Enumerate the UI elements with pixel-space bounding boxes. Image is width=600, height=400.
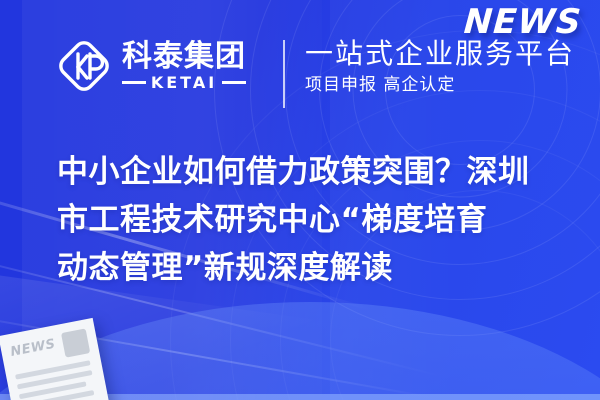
brand-logo[interactable]: 科泰集团 KETAI [56,38,246,94]
tagline-sub: 项目申报 高企认定 [305,74,575,96]
tagline-main: 一站式企业服务平台 [305,36,575,71]
banner-header: 科泰集团 KETAI 一站式企业服务平台 项目申报 高企认定 [0,36,600,112]
headline-block: 中小企业如何借力政策突围？深圳 市工程技术研究中心“梯度培育 动态管理”新规深度… [57,148,577,292]
header-divider [283,40,285,108]
tagline-block: 一站式企业服务平台 项目申报 高企认定 [305,36,575,96]
news-banner: NEWS 科泰集团 [0,0,600,400]
newspaper-card-label: NEWS [9,337,56,360]
ketai-diamond-monogram-icon [56,38,112,94]
newspaper-card-text-lines [15,360,98,400]
newspaper-card: NEWS [0,318,114,400]
headline-line-1: 中小企业如何借力政策突围？深圳 [57,148,577,196]
image-placeholder-icon [61,328,90,357]
headline-line-2: 市工程技术研究中心“梯度培育 [57,196,577,244]
brand-name-cn: 科泰集团 [122,41,246,73]
brand-name-en: KETAI [151,75,217,91]
headline-line-3: 动态管理”新规深度解读 [57,244,577,292]
logo-dash-right [222,81,246,84]
brand-name-en-row: KETAI [122,75,246,91]
logo-dash-left [122,81,146,84]
